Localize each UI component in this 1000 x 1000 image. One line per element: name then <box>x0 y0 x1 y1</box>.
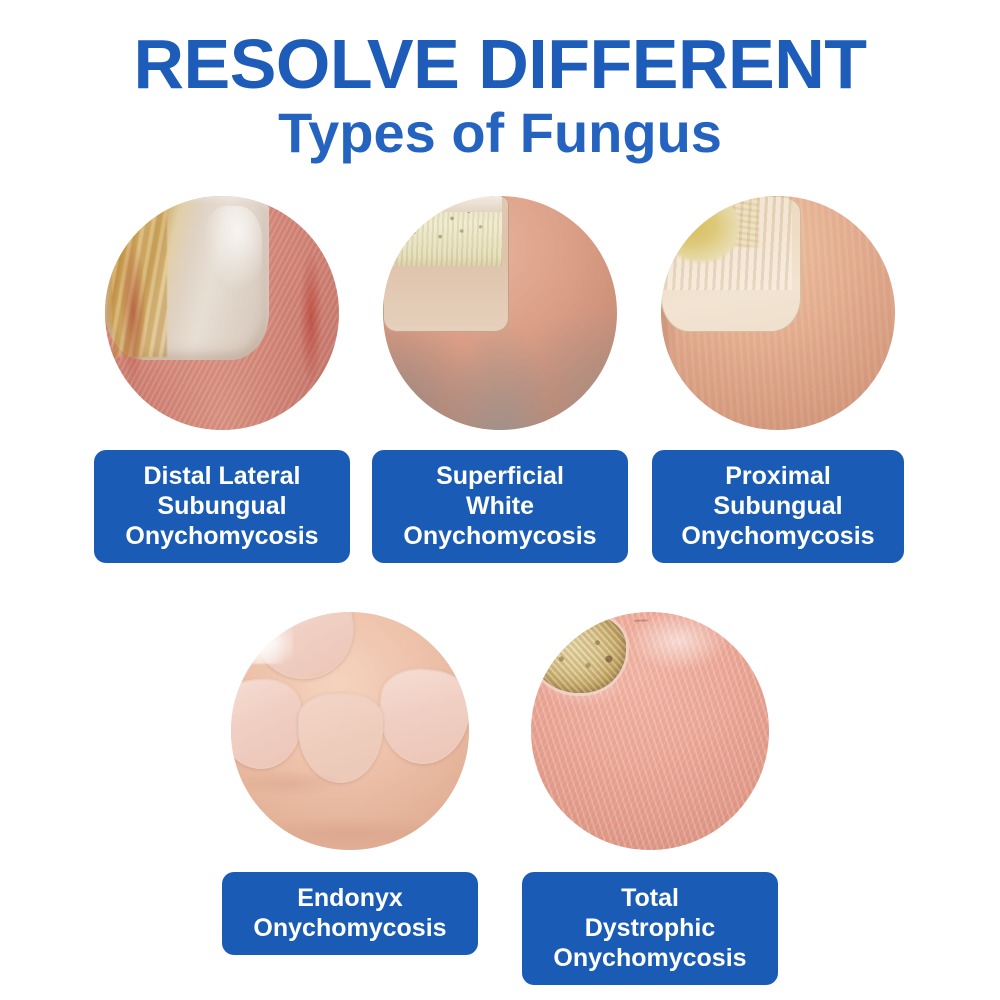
caption-distal-lateral-subungual: Distal Lateral Subungual Onychomycosis <box>94 450 350 563</box>
caption-endonyx: Endonyx Onychomycosis <box>222 872 478 955</box>
skin-creases <box>231 612 469 850</box>
fungus-types-bottom-row: Endonyx Onychomycosis Total Dystrophic O… <box>0 612 1000 985</box>
fungus-type-card-endonyx: Endonyx Onychomycosis <box>211 612 489 985</box>
fungus-type-card-total-dystrophic: Total Dystrophic Onychomycosis <box>511 612 789 985</box>
fungus-type-card-superficial-white: Superficial White Onychomycosis <box>372 196 628 563</box>
caption-proximal-subungual: Proximal Subungual Onychomycosis <box>652 450 904 563</box>
endonyx-onychomycosis-photo <box>231 612 469 850</box>
fungus-types-top-row: Distal Lateral Subungual Onychomycosis S… <box>0 196 1000 563</box>
distal-lateral-subungual-onychomycosis-photo <box>105 196 339 430</box>
page-title-line2: Types of Fungus <box>0 102 1000 164</box>
proximal-yellow-patch <box>661 196 738 262</box>
page-title-line1: RESOLVE DIFFERENT <box>0 26 1000 102</box>
dystrophic-big-toenail <box>531 612 626 693</box>
nail-free-edge <box>383 196 502 212</box>
caption-superficial-white: Superficial White Onychomycosis <box>372 450 628 563</box>
proximal-subungual-onychomycosis-photo <box>661 196 895 430</box>
fungus-type-card-proximal-subungual: Proximal Subungual Onychomycosis <box>650 196 906 563</box>
fungus-type-card-distal-lateral-subungual: Distal Lateral Subungual Onychomycosis <box>94 196 350 563</box>
caption-total-dystrophic: Total Dystrophic Onychomycosis <box>522 872 778 985</box>
nail-fold-groove <box>105 196 339 430</box>
total-dystrophic-onychomycosis-photo <box>531 612 769 850</box>
superficial-white-onychomycosis-photo <box>383 196 617 430</box>
page-heading: RESOLVE DIFFERENT Types of Fungus <box>0 26 1000 164</box>
